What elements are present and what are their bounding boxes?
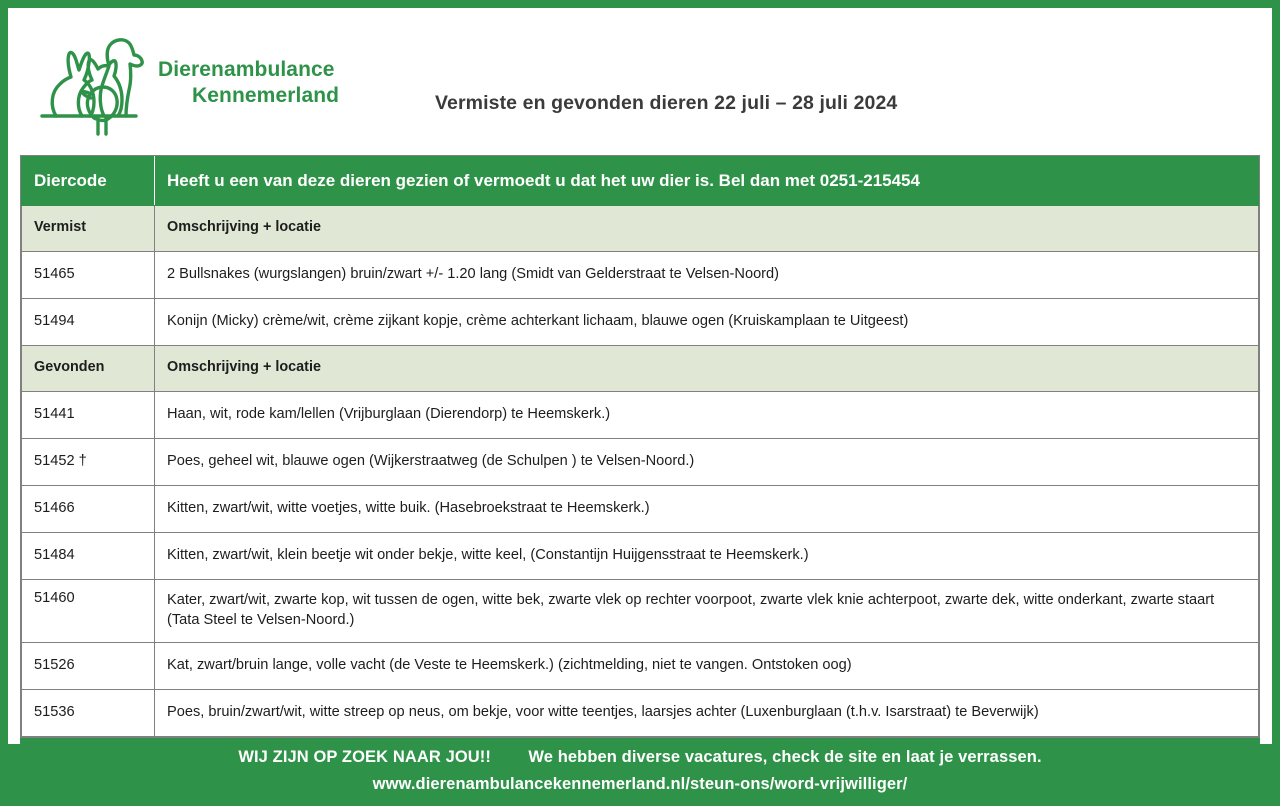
animal-code: 51526 [22,643,155,690]
animal-description: 2 Bullsnakes (wurgslangen) bruin/zwart +… [155,252,1259,299]
table-row: 51484 Kitten, zwart/wit, klein beetje wi… [22,533,1259,580]
table-row: 51452 † Poes, geheel wit, blauwe ogen (W… [22,439,1259,486]
animal-description: Haan, wit, rode kam/lellen (Vrijburglaan… [155,392,1259,439]
brand-name: Dierenambulance Kennemerland [158,57,339,108]
animal-description: Kitten, zwart/wit, witte voetjes, witte … [155,486,1259,533]
table-row: 51460 Kater, zwart/wit, zwarte kop, wit … [22,580,1259,643]
page-title: Vermiste en gevonden dieren 22 juli – 28… [435,92,897,115]
animal-code: 51460 [22,580,155,643]
volunteer-signup-url[interactable]: www.dierenambulancekennemerland.nl/steun… [21,775,1259,794]
notice-table: Diercode Heeft u een van deze dieren gez… [21,156,1259,737]
table-row: 51494 Konijn (Micky) crème/wit, crème zi… [22,299,1259,346]
notice-table-container: Diercode Heeft u een van deze dieren gez… [20,155,1260,738]
table-row: 51526 Kat, zwart/bruin lange, volle vach… [22,643,1259,690]
animal-description: Poes, geheel wit, blauwe ogen (Wijkerstr… [155,439,1259,486]
column-header-omschrijving-vermist: Omschrijving + locatie [155,206,1259,252]
brand-logo-block: Dierenambulance Kennemerland [36,30,339,136]
poster-page: Dierenambulance Kennemerland Vermiste en… [8,8,1272,744]
animal-code: 51536 [22,690,155,737]
volunteer-callout-banner: WIJ ZIJN OP ZOEK NAAR JOU!! We hebben di… [20,738,1260,806]
table-row: 51536 Poes, bruin/zwart/wit, witte stree… [22,690,1259,737]
brand-name-line2: Kennemerland [158,83,339,109]
animal-code: 51494 [22,299,155,346]
table-banner-row: Diercode Heeft u een van deze dieren gez… [22,157,1259,206]
animal-code: 51441 [22,392,155,439]
table-row: 51465 2 Bullsnakes (wurgslangen) bruin/z… [22,252,1259,299]
section-label-vermist: Vermist [22,206,155,252]
animal-description: Konijn (Micky) crème/wit, crème zijkant … [155,299,1259,346]
volunteer-callout-headline: WIJ ZIJN OP ZOEK NAAR JOU!! [238,748,491,766]
volunteer-callout-line1: WIJ ZIJN OP ZOEK NAAR JOU!! We hebben di… [21,748,1259,767]
table-row: 51466 Kitten, zwart/wit, witte voetjes, … [22,486,1259,533]
brand-name-line1: Dierenambulance [158,58,335,81]
animal-code: 51466 [22,486,155,533]
animal-description: Kater, zwart/wit, zwarte kop, wit tussen… [155,580,1259,643]
animal-code: 51465 [22,252,155,299]
animal-code: 51484 [22,533,155,580]
volunteer-callout-subtext: We hebben diverse vacatures, check de si… [528,748,1041,766]
animal-description: Kitten, zwart/wit, klein beetje wit onde… [155,533,1259,580]
section-label-gevonden: Gevonden [22,346,155,392]
call-notice-message: Heeft u een van deze dieren gezien of ve… [155,157,1259,206]
animal-description: Kat, zwart/bruin lange, volle vacht (de … [155,643,1259,690]
table-row: 51441 Haan, wit, rode kam/lellen (Vrijbu… [22,392,1259,439]
column-header-diercode: Diercode [22,157,155,206]
animals-outline-logo-icon [36,30,148,136]
animal-code: 51452 † [22,439,155,486]
animal-description: Poes, bruin/zwart/wit, witte streep op n… [155,690,1259,737]
section-header-gevonden: Gevonden Omschrijving + locatie [22,346,1259,392]
poster-header: Dierenambulance Kennemerland Vermiste en… [8,8,1272,155]
column-header-omschrijving-gevonden: Omschrijving + locatie [155,346,1259,392]
section-header-vermist: Vermist Omschrijving + locatie [22,206,1259,252]
